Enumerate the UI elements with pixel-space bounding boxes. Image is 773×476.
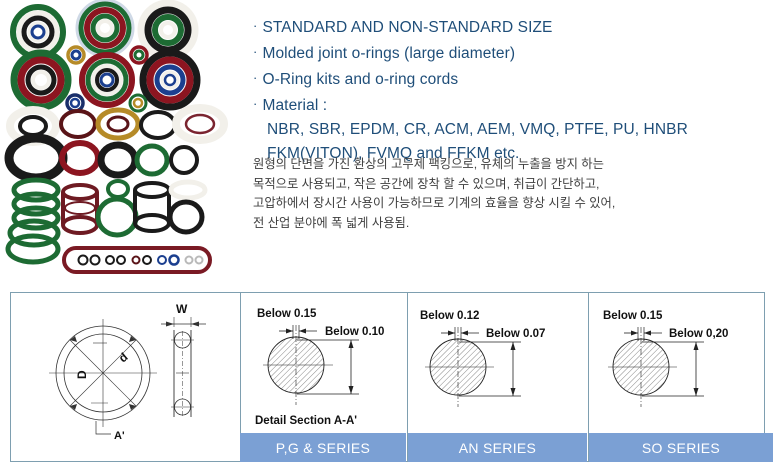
label-below-top: Below 0.12 <box>420 310 479 322</box>
drawing-cell-dimension: D d W A' <box>11 293 240 461</box>
korean-line-1: 목적으로 사용되고, 작은 공간에 장착 할 수 있으며, 취급이 간단하고, <box>253 175 753 195</box>
spec-bullet-label-0: STANDARD AND NON-STANDARD SIZE <box>262 19 552 36</box>
spec-bullet-1: ·Molded joint o-rings (large diameter) <box>253 40 763 66</box>
label-width: W <box>176 302 188 316</box>
spec-bullet-label-1: Molded joint o-rings (large diameter) <box>262 45 515 62</box>
spec-bullet-3: ·Material : <box>253 92 763 118</box>
bullet-marker-2: · <box>253 70 257 85</box>
korean-line-0: 원형의 단면을 가진 환상의 고무제 팩킹으로, 유체의 누출을 방지 하는 <box>253 155 753 175</box>
bullet-marker-3: · <box>253 96 257 111</box>
oring-product-photo <box>0 0 228 278</box>
label-detail-section: Detail Section A-A' <box>255 415 357 427</box>
caption-pg-series[interactable]: P,G & SERIES <box>240 433 406 462</box>
material-line-0: NBR, SBR, EPDM, CR, ACM, AEM, VMQ, PTFE,… <box>253 118 763 142</box>
bullet-marker-1: · <box>253 44 257 59</box>
bullet-marker-0: · <box>253 18 257 33</box>
label-below-right: Below 0,20 <box>669 328 728 340</box>
label-below-top: Below 0.15 <box>603 310 663 322</box>
label-below-top: Below 0.15 <box>257 308 317 320</box>
korean-line-3: 전 산업 분야에 폭 넓게 사용됨. <box>253 214 753 234</box>
spec-bullet-label-2: O-Ring kits and o-ring cords <box>262 71 458 88</box>
caption-so-label: SO SERIES <box>642 440 720 456</box>
label-section-a: A' <box>114 430 125 442</box>
specification-list: ·STANDARD AND NON-STANDARD SIZE ·Molded … <box>253 14 763 166</box>
caption-an-label: AN SERIES <box>459 440 536 456</box>
label-outer-diameter: D <box>75 370 89 379</box>
label-inner-diameter: d <box>116 350 131 365</box>
caption-pg-label: P,G & SERIES <box>276 440 370 456</box>
korean-description: 원형의 단면을 가진 환상의 고무제 팩킹으로, 유체의 누출을 방지 하는 목… <box>253 155 753 233</box>
korean-line-2: 고압하에서 장시간 사용이 가능하므로 기계의 효율을 향상 시킬 수 있어, <box>253 194 753 214</box>
label-below-right: Below 0.07 <box>486 328 545 340</box>
spec-bullet-label-3: Material : <box>262 97 327 114</box>
spec-bullet-2: ·O-Ring kits and o-ring cords <box>253 66 763 92</box>
caption-an-series[interactable]: AN SERIES <box>408 433 587 462</box>
spec-bullet-0: ·STANDARD AND NON-STANDARD SIZE <box>253 14 763 40</box>
caption-so-series[interactable]: SO SERIES <box>589 433 773 462</box>
label-below-right: Below 0.10 <box>325 326 384 338</box>
